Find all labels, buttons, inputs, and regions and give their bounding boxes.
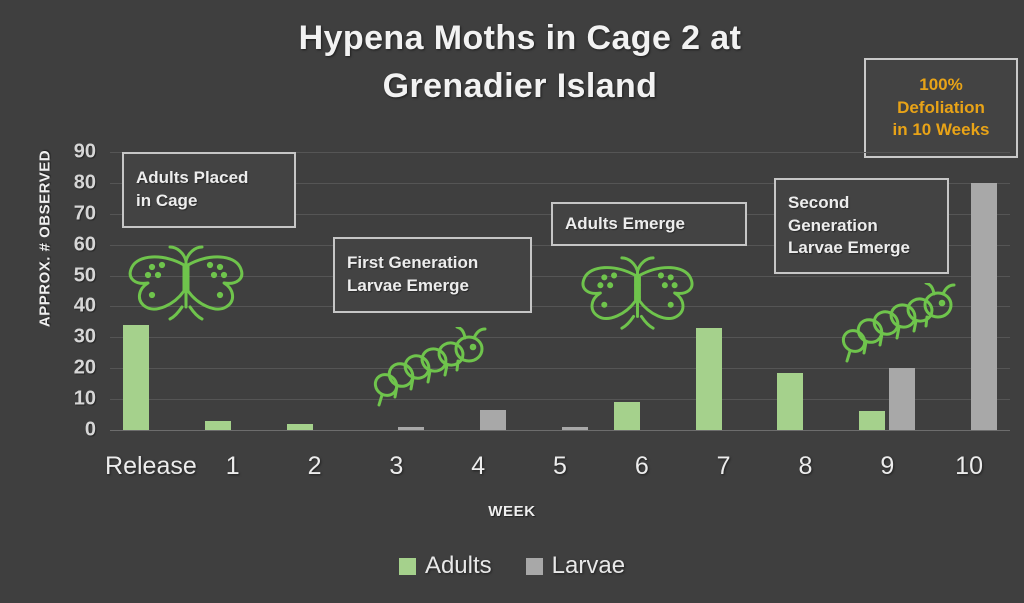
gridline [110, 337, 1010, 338]
x-tick-label: 1 [226, 452, 240, 481]
annotation-first-generation-larvae: First Generation Larvae Emerge [333, 237, 532, 313]
x-tick-label: 2 [308, 452, 322, 481]
defoliation-callout: 100% Defoliation in 10 Weeks [864, 58, 1018, 158]
x-axis-title: WEEK [0, 503, 1024, 520]
y-tick-label: 90 [50, 141, 96, 164]
legend-swatch-icon [399, 558, 416, 575]
annotation-adults-placed: Adults Placed in Cage [122, 152, 296, 228]
y-tick-label: 40 [50, 295, 96, 318]
bar-larvae-9 [889, 368, 915, 430]
bar-adults-6 [614, 402, 640, 430]
annotation-second-generation-larvae: Second Generation Larvae Emerge [774, 178, 949, 274]
x-tick-label: 8 [799, 452, 813, 481]
bar-larvae-3 [398, 427, 424, 430]
legend: AdultsLarvae [0, 552, 1024, 580]
y-tick-label: 20 [50, 357, 96, 380]
bar-adults-release [123, 325, 149, 430]
x-tick-label: 6 [635, 452, 649, 481]
y-tick-label: 0 [50, 419, 96, 442]
y-tick-label: 80 [50, 171, 96, 194]
x-tick-label: 7 [717, 452, 731, 481]
gridline [110, 276, 1010, 277]
y-tick-label: 10 [50, 388, 96, 411]
chart-title: Hypena Moths in Cage 2 at Grenadier Isla… [150, 14, 890, 111]
bar-adults-2 [287, 424, 313, 430]
annotation-adults-emerge: Adults Emerge [551, 202, 747, 246]
x-tick-label: 10 [955, 452, 983, 481]
x-tick-label: 4 [471, 452, 485, 481]
bar-larvae-5 [562, 427, 588, 430]
x-tick-label: 5 [553, 452, 567, 481]
x-tick-label: 9 [880, 452, 894, 481]
bar-adults-7 [696, 328, 722, 430]
legend-label: Larvae [552, 552, 625, 580]
legend-item-adults[interactable]: Adults [399, 552, 492, 580]
bar-larvae-4 [480, 410, 506, 430]
y-axis-tick-labels: 9080706050403020100 [50, 152, 96, 430]
x-tick-label: Release [105, 452, 197, 481]
bar-larvae-10 [971, 183, 997, 430]
bar-adults-1 [205, 421, 231, 430]
bar-adults-8 [777, 373, 803, 430]
legend-label: Adults [425, 552, 492, 580]
legend-swatch-icon [526, 558, 543, 575]
gridline [110, 306, 1010, 307]
y-tick-label: 50 [50, 264, 96, 287]
gridline [110, 368, 1010, 369]
x-tick-label: 3 [389, 452, 403, 481]
chart-canvas: Hypena Moths in Cage 2 at Grenadier Isla… [0, 0, 1024, 603]
bar-adults-9 [859, 411, 885, 430]
gridline [110, 399, 1010, 400]
legend-item-larvae[interactable]: Larvae [526, 552, 625, 580]
y-tick-label: 60 [50, 233, 96, 256]
y-tick-label: 70 [50, 202, 96, 225]
y-tick-label: 30 [50, 326, 96, 349]
gridline [110, 430, 1010, 431]
